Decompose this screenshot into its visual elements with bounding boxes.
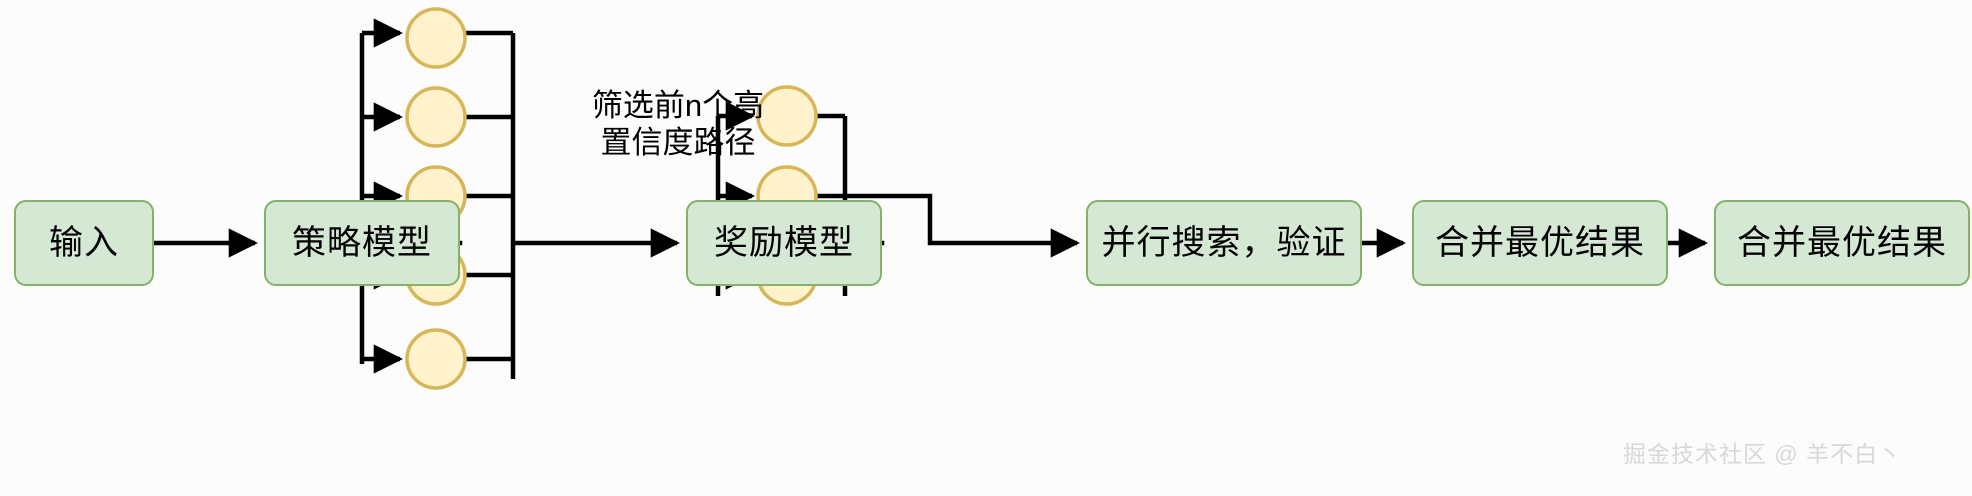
policy-sample-circle-2 [407,88,465,146]
node-reward-model[interactable]: 奖励模型 [686,200,882,286]
policy-sample-circle-1 [407,9,465,67]
node-merge-best-result-1[interactable]: 合并最优结果 [1412,200,1668,286]
node-parallel-search-verify[interactable]: 并行搜索，验证 [1086,200,1362,286]
watermark-text: 掘金技术社区 @ 羊不白丶 [1623,435,1902,469]
circle-node-layer [407,9,816,388]
edge-label-filter-top-n: 筛选前n个高 置信度路径 [528,88,828,161]
node-input[interactable]: 输入 [14,200,154,286]
node-merge-best-result-2[interactable]: 合并最优结果 [1714,200,1970,286]
policy-sample-circle-5 [407,330,465,388]
diagram-canvas: 输入 策略模型 奖励模型 并行搜索，验证 合并最优结果 合并最优结果 筛选前n个… [0,0,1972,496]
node-policy-model[interactable]: 策略模型 [264,200,460,286]
